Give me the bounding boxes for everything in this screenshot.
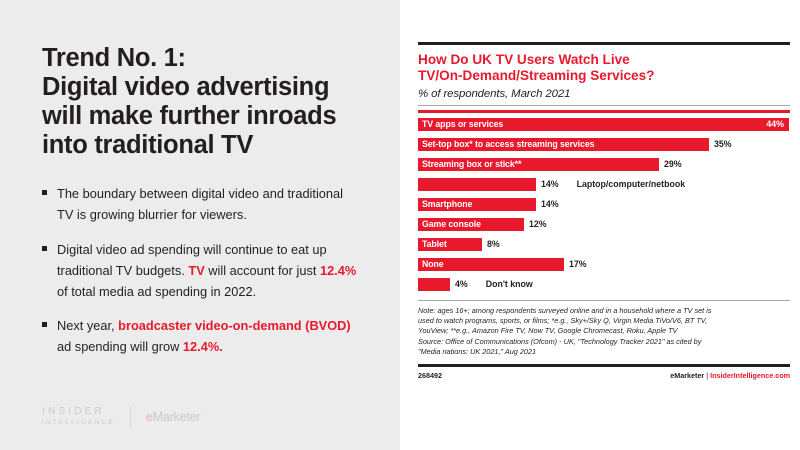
bar-label: Tablet bbox=[418, 239, 447, 249]
headline-line: into traditional TV bbox=[42, 131, 362, 160]
bullet-square-icon bbox=[42, 246, 47, 251]
bar bbox=[418, 278, 450, 291]
chart-note-line: Note: ages 16+; among respondents survey… bbox=[418, 306, 790, 316]
chart-title: How Do UK TV Users Watch LiveTV/On-Deman… bbox=[418, 52, 790, 85]
emarketer-logo: eMarketer bbox=[146, 410, 200, 424]
bullet-text: Next year, bbox=[57, 318, 118, 333]
chart-notes: Note: ages 16+; among respondents survey… bbox=[418, 306, 790, 358]
bar-value: 14% bbox=[536, 178, 559, 191]
bar-value: 35% bbox=[709, 138, 732, 151]
bullet-square-icon bbox=[42, 322, 47, 327]
chart-brand-site: InsiderIntelligence.com bbox=[710, 371, 790, 380]
bar-row: 4%Don't know bbox=[418, 278, 790, 291]
insider-logo-line1: INSIDER bbox=[42, 407, 105, 417]
bullet-square-icon bbox=[42, 190, 47, 195]
bar-label: Set-top box* to access streaming service… bbox=[418, 139, 594, 149]
bar-label: Streaming box or stick** bbox=[418, 159, 521, 169]
bar: Set-top box* to access streaming service… bbox=[418, 138, 709, 151]
left-content-panel: Trend No. 1:Digital video advertisingwil… bbox=[0, 0, 400, 450]
chart-subtitle-rule bbox=[418, 105, 790, 106]
chart-notes-rule bbox=[418, 300, 790, 301]
bullet-text: of total media ad spending in 2022. bbox=[57, 284, 256, 299]
logo-divider bbox=[130, 406, 131, 428]
bar-row: 14%Laptop/computer/netbook bbox=[418, 178, 790, 191]
slide: Trend No. 1:Digital video advertisingwil… bbox=[0, 0, 800, 450]
bar-label: Don't know bbox=[468, 278, 533, 291]
bar: Streaming box or stick** bbox=[418, 158, 659, 171]
chart-footer: 268492 eMarketer|InsiderIntelligence.com bbox=[418, 371, 790, 380]
chart-note-line: YouView; **e.g., Amazon Fire TV, Now TV,… bbox=[418, 326, 790, 336]
bar-row: TV apps or services44% bbox=[418, 118, 790, 131]
bar-value: 44% bbox=[766, 119, 784, 129]
bullet-item: Next year, broadcaster video-on-demand (… bbox=[42, 316, 362, 358]
bullet-emphasis: TV bbox=[188, 263, 204, 278]
bullet-list: The boundary between digital video and t… bbox=[42, 184, 362, 358]
headline-line: will make further inroads bbox=[42, 102, 362, 131]
bar-label: Game console bbox=[418, 219, 481, 229]
chart-accent-rule bbox=[418, 110, 790, 113]
chart-top-rule bbox=[418, 42, 790, 45]
headline-line: Digital video advertising bbox=[42, 73, 362, 102]
bar-value: 17% bbox=[564, 258, 587, 271]
bar-value: 12% bbox=[524, 218, 547, 231]
brand-footer: INSIDER INTELLIGENCE eMarketer bbox=[42, 406, 200, 428]
bullet-text: The boundary between digital video and t… bbox=[57, 186, 343, 222]
chart-brand: eMarketer|InsiderIntelligence.com bbox=[670, 371, 790, 380]
bar: Game console bbox=[418, 218, 524, 231]
page-title: Trend No. 1:Digital video advertisingwil… bbox=[42, 44, 362, 160]
chart-panel: How Do UK TV Users Watch LiveTV/On-Deman… bbox=[400, 0, 800, 450]
bullet-emphasis: broadcaster video-on-demand (BVOD) bbox=[118, 318, 351, 333]
bar-row: Smartphone14% bbox=[418, 198, 790, 211]
bullet-text: ad spending will grow bbox=[57, 339, 183, 354]
bar-label: TV apps or services bbox=[418, 119, 503, 129]
bullet-text: will account for just bbox=[205, 263, 320, 278]
bar-row: Game console12% bbox=[418, 218, 790, 231]
chart-note-line: used to watch programs, sports, or films… bbox=[418, 316, 790, 326]
bar-value: 8% bbox=[482, 238, 500, 251]
chart-id: 268492 bbox=[418, 371, 442, 380]
bar-row: None17% bbox=[418, 258, 790, 271]
bar-row: Tablet8% bbox=[418, 238, 790, 251]
insider-logo-line2: INTELLIGENCE bbox=[42, 420, 115, 427]
chart-note-line: Source: Office of Communications (Ofcom)… bbox=[418, 337, 790, 347]
chart-brand-emarketer: eMarketer bbox=[670, 371, 704, 380]
chart-title-line: How Do UK TV Users Watch Live bbox=[418, 52, 790, 68]
chart-note-line: "Media nations: UK 2021," Aug 2021 bbox=[418, 347, 790, 357]
insider-intelligence-logo: INSIDER INTELLIGENCE bbox=[42, 407, 115, 427]
bar-value: 14% bbox=[536, 198, 559, 211]
bar-value: 4% bbox=[450, 278, 468, 291]
bullet-emphasis: 12.4%. bbox=[183, 339, 223, 354]
bar: None bbox=[418, 258, 564, 271]
bar-row: Set-top box* to access streaming service… bbox=[418, 138, 790, 151]
emarketer-logo-rest: Marketer bbox=[153, 410, 201, 424]
chart-bottom-rule bbox=[418, 364, 790, 367]
bar-label: None bbox=[418, 259, 444, 269]
bar bbox=[418, 178, 536, 191]
bullet-emphasis: 12.4% bbox=[320, 263, 356, 278]
headline-line: Trend No. 1: bbox=[42, 44, 362, 73]
bullet-item: Digital video ad spending will continue … bbox=[42, 240, 362, 303]
bullet-item: The boundary between digital video and t… bbox=[42, 184, 362, 226]
bar: TV apps or services44% bbox=[418, 118, 789, 131]
emarketer-logo-e: e bbox=[146, 410, 153, 424]
bar-label: Laptop/computer/netbook bbox=[559, 178, 686, 191]
chart-subtitle: % of respondents, March 2021 bbox=[418, 88, 790, 100]
bar-value: 29% bbox=[659, 158, 682, 171]
bar: Smartphone bbox=[418, 198, 536, 211]
chart-title-line: TV/On-Demand/Streaming Services? bbox=[418, 68, 790, 84]
bar-label: Smartphone bbox=[418, 199, 472, 209]
bar-chart: TV apps or services44%Set-top box* to ac… bbox=[418, 118, 790, 291]
bar-row: Streaming box or stick**29% bbox=[418, 158, 790, 171]
bar: Tablet bbox=[418, 238, 482, 251]
